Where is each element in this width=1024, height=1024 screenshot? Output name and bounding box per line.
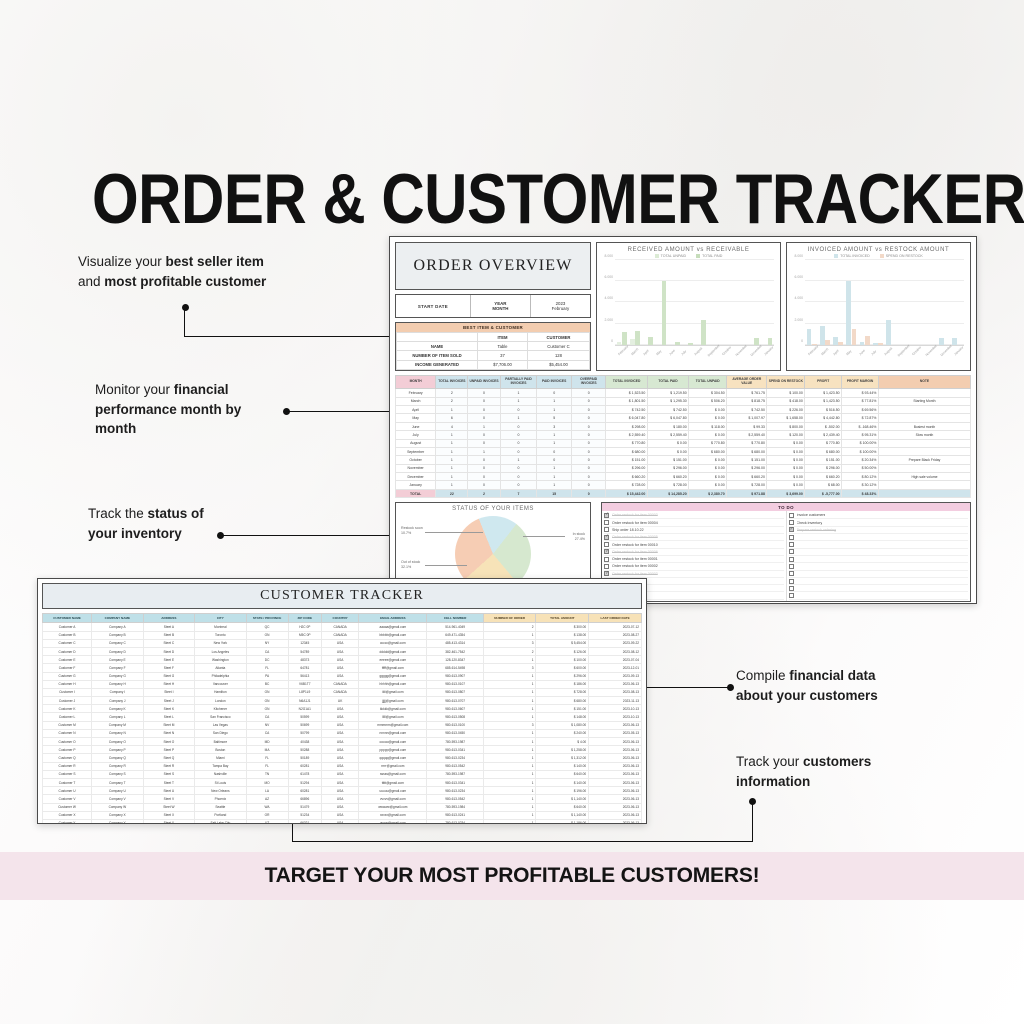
cell-margin: $ 93.44% (842, 389, 879, 397)
column-header: PAID INVOICES (537, 375, 572, 389)
cell-address: Steet H (143, 680, 195, 688)
table-row[interactable]: Customer NCompany NSteet NSan DiegoCA507… (43, 729, 642, 737)
cell-email-address: mmmmm@gmail.com (359, 721, 427, 729)
cell-paid_amt: $ 1,295.30 (647, 397, 688, 405)
column-header: PROFIT MARGIN (842, 375, 879, 389)
table-row[interactable]: Customer XCompany XSteet XPortlandOR5123… (43, 811, 642, 819)
cell-note: Slow month (878, 431, 970, 439)
todo-item[interactable] (789, 556, 969, 563)
cell-city: Miami (195, 754, 247, 762)
best-row-item: $7,706.00 (478, 360, 528, 369)
cell-unpaid_amt: $ 0.00 (689, 414, 727, 422)
best-row-label: INCOME GENERATED (397, 360, 478, 369)
cell-margin: $ 72.87% (842, 414, 879, 422)
table-row[interactable]: Customer QCompany QSteet QMiamiFL50189US… (43, 754, 642, 762)
cell-customer-name: Customer X (43, 811, 92, 819)
callout-anchor-dot (217, 532, 224, 539)
table-row[interactable]: January10010$ 728.00$ 728.00$ 0.00$ 728.… (396, 481, 971, 489)
checkbox-icon[interactable] (789, 586, 794, 591)
table-row[interactable]: February20100$ 1,523.50$ 1,219.50$ 304.5… (396, 389, 971, 397)
column-header: UNPAID INVOICES (468, 375, 500, 389)
table-row[interactable]: March20110$ 1,801.50$ 1,295.30$ 506.20$ … (396, 397, 971, 405)
cell-total-amount: $ 1,258.00 (536, 746, 589, 754)
cell-email-address: xxxxx@gmail.com (359, 811, 427, 819)
checkbox-icon[interactable] (604, 513, 609, 518)
checkbox-icon[interactable] (789, 593, 794, 598)
best-blank-corner (397, 333, 478, 342)
todo-label: Order restock for item 00003 (612, 572, 658, 576)
cell-city: San Francisco (195, 713, 247, 721)
cell-cell-number: 780-593-1987 (427, 738, 483, 746)
table-row[interactable]: August10010$ 770.80$ 0.00$ 770.80$ 770.8… (396, 439, 971, 447)
cell-aov: $ 660.20 (727, 473, 767, 481)
cell-paid: 0 (537, 456, 572, 464)
cell-partially: 0 (500, 464, 537, 472)
bar-group (695, 260, 708, 345)
table-row[interactable]: Customer VCompany VSteet VPhoenixAZ66896… (43, 795, 642, 803)
cell-margin: $ 80.12% (842, 473, 879, 481)
cell-number-of-order: 1 (483, 631, 536, 639)
cell-zip-code: N6A1J1 (288, 697, 322, 705)
cell-customer-name: Customer L (43, 713, 92, 721)
column-header: COMPANY NAME (92, 614, 144, 623)
cell-state-province: TN (246, 770, 288, 778)
todo-item[interactable]: Order restock for item 00001 (604, 556, 784, 563)
cell-number-of-order: 3 (483, 664, 536, 672)
order-overview-sheet[interactable]: ORDER OVERVIEW START DATE YEAR MONTH 202… (389, 236, 977, 604)
cell-last-order-date: 2023-06-13 (589, 680, 642, 688)
todo-item[interactable]: Invoice customers (789, 512, 969, 519)
todo-item[interactable]: Order restock for item 00010 (604, 541, 784, 548)
table-row[interactable]: April10010$ 742.50$ 742.50$ 0.00$ 742.50… (396, 406, 971, 414)
todo-item[interactable]: Order restock for item 00003 (604, 571, 784, 578)
todo-item[interactable]: Order restock for item 00003 (604, 512, 784, 519)
table-row[interactable]: Customer ACompany ASteet AMontrealQCH2C … (43, 623, 642, 631)
cell-aov: $ 971.88 (727, 489, 767, 497)
cell-number-of-order: 1 (483, 770, 536, 778)
chart-plot-area: 02.0004.0006.0008.000 (615, 260, 774, 346)
pie-label-out-of-stock: Out of stock 32.1% (401, 560, 420, 569)
todo-item[interactable] (789, 534, 969, 541)
column-header: TOTAL INVOICES (436, 375, 468, 389)
cell-unpaid: 0 (468, 439, 500, 447)
cell-address: Steet M (143, 721, 195, 729)
table-row[interactable]: Customer LCompany LSteet LSan FranciscoC… (43, 713, 642, 721)
column-header: CUSTOMER NAME (43, 614, 92, 623)
cell-aov: $ 1,007.97 (727, 414, 767, 422)
cell-city: Los Angeles (195, 647, 247, 655)
todo-item[interactable] (789, 549, 969, 556)
table-row[interactable]: July10010$ 2,559.40$ 2,559.40$ 0.00$ 2,5… (396, 431, 971, 439)
monthly-financial-table[interactable]: MONTHTOTAL INVOICESUNPAID INVOICESPARTIA… (395, 375, 971, 498)
cell-country: USA (322, 778, 359, 786)
cell-address: Steet I (143, 688, 195, 696)
table-row[interactable]: Customer JCompany JSteet JLondonONN6A1J1… (43, 697, 642, 705)
bar-group (628, 260, 641, 345)
cell-number-of-order: 1 (483, 656, 536, 664)
cell-unpaid: 0 (468, 389, 500, 397)
best-item-customer-table: ITEM CUSTOMER NAME Table Customer C NUMB… (396, 332, 590, 370)
cell-invoiced: $ 298.00 (606, 422, 647, 430)
cell-email-address: ooooo@gmail.com (359, 738, 427, 746)
callout-financial-performance: Monitor your financial performance month… (95, 380, 315, 439)
cell-state-province: MA (246, 746, 288, 754)
column-header: PARTIALLY PAID INVOICES (500, 375, 537, 389)
checkbox-icon[interactable] (789, 535, 794, 540)
table-row[interactable]: September11000$ 680.00$ 0.00$ 680.00$ 68… (396, 447, 971, 455)
todo-label: Ship order 18.10.22 (612, 528, 644, 532)
cell-number-of-order: 1 (483, 680, 536, 688)
callout-text: Monitor your (95, 382, 174, 397)
table-row[interactable]: November10010$ 296.00$ 296.00$ 0.00$ 296… (396, 464, 971, 472)
cell-paid_amt: $ 742.50 (647, 406, 688, 414)
checkbox-icon[interactable] (789, 527, 794, 532)
cell-aov: $ 680.00 (727, 447, 767, 455)
cell-country: UK (322, 697, 359, 705)
table-row[interactable]: May60150$ 6,047.80$ 6,047.80$ 0.00$ 1,00… (396, 414, 971, 422)
todo-item[interactable]: Prepare restock ordering (789, 527, 969, 534)
table-row[interactable]: Customer GCompany GSteet GPhiladelphiaPA… (43, 672, 642, 680)
cell-margin: $ 48.33% (842, 489, 879, 497)
todo-item[interactable]: Ship order 18.10.22 (604, 527, 784, 534)
cell-company-name: Company K (92, 705, 144, 713)
cell-email-address: nnnnn@gmail.com (359, 729, 427, 737)
cell-city: New Orleans (195, 787, 247, 795)
checkbox-icon[interactable] (604, 520, 609, 525)
cell-profit: $ 68.00 (805, 481, 842, 489)
cell-aov: $ 99.33 (727, 422, 767, 430)
cell-margin: $ 100.00% (842, 447, 879, 455)
cell-company-name: Company D (92, 647, 144, 655)
checkbox-icon[interactable] (789, 513, 794, 518)
chart-title: INVOICED AMOUNT vs RESTOCK AMOUNT (791, 247, 966, 253)
table-row[interactable]: Customer PCompany PSteet PBostonMA50288U… (43, 746, 642, 754)
cell-zip-code: 51234 (288, 811, 322, 819)
callout-emphasis: performance month by (95, 402, 241, 417)
cell-total-amount: $ 728.00 (536, 688, 589, 696)
cell-state-province: BC (246, 680, 288, 688)
table-row[interactable]: December10010$ 660.20$ 660.20$ 0.00$ 660… (396, 473, 971, 481)
bar (939, 338, 944, 344)
pie-label-in-stock: In stock 27.4% (573, 532, 585, 541)
cell-month: April (396, 406, 436, 414)
bar (852, 329, 857, 344)
table-row[interactable]: June41030$ 298.00$ 180.00$ 118.00$ 99.33… (396, 422, 971, 430)
callout-anchor-dot (283, 408, 290, 415)
column-header: ADDRESS (143, 614, 195, 623)
table-row[interactable]: Customer CCompany CSteet CNew YorkNY1234… (43, 639, 642, 647)
order-overview-left-column: ORDER OVERVIEW START DATE YEAR MONTH 202… (395, 242, 591, 371)
start-date-label: START DATE (396, 295, 470, 317)
cell-state-province: PA (246, 672, 288, 680)
cell-number-of-order: 1 (483, 697, 536, 705)
table-row[interactable]: Customer ICompany ISteet IHamiltonONL8P1… (43, 688, 642, 696)
todo-item[interactable] (789, 563, 969, 570)
todo-item[interactable]: Order restock for item 00002 (604, 563, 784, 570)
chart-received-vs-receivable[interactable]: RECEIVED AMOUNT vs RECEIVABLE TOTAL UNPA… (596, 242, 781, 371)
table-row: NUMBER OF ITEM SOLD 37 128 (397, 351, 590, 360)
table-row[interactable]: Customer WCompany WSteet WSeattleWA51479… (43, 803, 642, 811)
cell-note: Prepare Black Friday (878, 456, 970, 464)
cell-cell-number: 780-613-0234 (427, 819, 483, 824)
cell-total-amount: $ 148.00 (536, 713, 589, 721)
cell-country: USA (322, 738, 359, 746)
cell-last-order-date: 2023-06-13 (589, 811, 642, 819)
cell-invoiced: $ 728.00 (606, 481, 647, 489)
table-row[interactable]: Customer TCompany TSteet TSt LouisMO5129… (43, 778, 642, 786)
table-row[interactable]: Customer YCompany YSteet YSalt Lake City… (43, 819, 642, 824)
checkbox-icon[interactable] (604, 571, 609, 576)
table-row[interactable]: Customer ECompany ESteet EWashingtonDC48… (43, 656, 642, 664)
cell-invoiced: $ 1,523.50 (606, 389, 647, 397)
cell-customer-name: Customer A (43, 623, 92, 631)
checkbox-icon[interactable] (789, 564, 794, 569)
cell-invoiced: $ 742.50 (606, 406, 647, 414)
cell-email-address: rrrrr@gmail.com (359, 762, 427, 770)
checkbox-icon[interactable] (604, 527, 609, 532)
cell-partially: 0 (500, 431, 537, 439)
cell-total_invoices: 6 (436, 414, 468, 422)
callout-leader-line (292, 824, 293, 842)
cell-country: USA (322, 729, 359, 737)
todo-panel[interactable]: TO DO Order restock for item 00003Order … (601, 502, 971, 602)
cell-profit: $ 660.20 (805, 473, 842, 481)
start-date-row[interactable]: START DATE YEAR MONTH 2023 February (395, 294, 591, 318)
checkbox-icon[interactable] (604, 557, 609, 562)
cell-customer-name: Customer Q (43, 754, 92, 762)
chart-invoiced-vs-restock[interactable]: INVOICED AMOUNT vs RESTOCK AMOUNT TOTAL … (786, 242, 971, 371)
cell-unpaid: 0 (468, 406, 500, 414)
cell-total-amount: $ 151.00 (536, 705, 589, 713)
cell-last-order-date: 2023-06-13 (589, 754, 642, 762)
customer-tracker-title: CUSTOMER TRACKER (42, 583, 642, 609)
cell-total-amount: $ 1,080.00 (536, 721, 589, 729)
cell-restock: $ 1,658.00 (767, 414, 805, 422)
cell-paid: 1 (537, 464, 572, 472)
todo-item[interactable] (789, 541, 969, 548)
cell-total-amount: $ 296.00 (536, 672, 589, 680)
cell-paid_amt: $ 728.00 (647, 481, 688, 489)
cell-customer-name: Customer W (43, 803, 92, 811)
cell-unpaid_amt: $ 0.00 (689, 481, 727, 489)
cell-last-order-date: 2023-08-12 (589, 647, 642, 655)
cell-country: USA (322, 754, 359, 762)
cell-overpaid: 0 (571, 473, 606, 481)
todo-label: Invoice customers (797, 513, 826, 517)
todo-header: TO DO (602, 503, 970, 511)
bar (807, 329, 812, 345)
cell-total_invoices: 1 (436, 431, 468, 439)
bar (635, 331, 640, 345)
cell-unpaid_amt: $ 770.80 (689, 439, 727, 447)
todo-item[interactable]: Check inventory (789, 519, 969, 526)
cell-paid: 1 (537, 431, 572, 439)
cell-month: October (396, 456, 436, 464)
bar-group (858, 260, 871, 345)
cell-state-province: DC (246, 656, 288, 664)
column-header: CELL NUMBER (427, 614, 483, 623)
checkbox-icon[interactable] (789, 542, 794, 547)
cell-city: Montreal (195, 623, 247, 631)
pie-leader-line (425, 532, 483, 533)
bar-group (845, 260, 858, 345)
bar-group (911, 260, 924, 345)
period-values[interactable]: 2023 February (530, 295, 590, 317)
table-row[interactable]: Customer KCompany KSteet KKitchenerONN2G… (43, 705, 642, 713)
cell-paid_amt: $ 6,047.80 (647, 414, 688, 422)
cell-total-amount: $ 1,140.00 (536, 811, 589, 819)
checkbox-icon[interactable] (789, 571, 794, 576)
cell-state-province: FL (246, 762, 288, 770)
cell-last-order-date: 2023-06-13 (589, 795, 642, 803)
cell-total-amount: $ 640.00 (536, 803, 589, 811)
cell-country: CANADA (322, 623, 359, 631)
checkbox-icon[interactable] (604, 542, 609, 547)
table-row[interactable]: Customer UCompany USteet UNew OrleansLA6… (43, 787, 642, 795)
cell-zip-code: V6B1T7 (288, 680, 322, 688)
cell-total_invoices: 1 (436, 456, 468, 464)
table-row[interactable]: Customer HCompany HSteet HVancouverBCV6B… (43, 680, 642, 688)
cell-email-address: hhhhh@gmail.com (359, 680, 427, 688)
y-axis-tick-label: 8.000 (795, 254, 804, 258)
bar (820, 326, 825, 345)
cell-email-address: jjjjj@gmail.com (359, 697, 427, 705)
todo-item[interactable] (789, 578, 969, 585)
cell-city: New York (195, 639, 247, 647)
cell-number-of-order: 1 (483, 819, 536, 824)
table-header-row: MONTHTOTAL INVOICESUNPAID INVOICESPARTIA… (396, 375, 971, 389)
footer-banner: TARGET YOUR MOST PROFITABLE CUSTOMERS! (0, 852, 1024, 900)
todo-item[interactable]: Order restock for item 00004 (604, 519, 784, 526)
cell-city: Kitchener (195, 705, 247, 713)
customer-tracker-table[interactable]: CUSTOMER NAMECOMPANY NAMEADDRESSCITYSTAT… (42, 613, 642, 824)
table-row[interactable]: Customer RCompany RSteet RTampa BayFL602… (43, 762, 642, 770)
cell-unpaid: 1 (468, 422, 500, 430)
cell-last-order-date: 2023-06-13 (589, 721, 642, 729)
cell-address: Steet A (143, 623, 195, 631)
cell-number-of-order: 1 (483, 754, 536, 762)
cell-email-address: sssss@gmail.com (359, 770, 427, 778)
month-value-dropdown[interactable]: February (552, 306, 570, 311)
cell-cell-number: 780-593-1984 (427, 803, 483, 811)
cell-profit: $ 1,423.50 (805, 389, 842, 397)
todo-item[interactable] (789, 585, 969, 592)
table-row[interactable]: Customer DCompany DSteet DLos AngelesCA5… (43, 647, 642, 655)
cell-company-name: Company C (92, 639, 144, 647)
cell-country: USA (322, 639, 359, 647)
cell-restock: $ 0.00 (767, 439, 805, 447)
checkbox-icon[interactable] (604, 535, 609, 540)
cell-country: CANADA (322, 688, 359, 696)
todo-item[interactable] (789, 571, 969, 578)
cell-customer-name: Customer P (43, 746, 92, 754)
cell-unpaid_amt: $ 680.00 (689, 447, 727, 455)
cell-partially: 1 (500, 456, 537, 464)
callout-emphasis: most profitable customer (104, 274, 266, 289)
table-row[interactable]: Customer SCompany SSteet SNashvilleTN614… (43, 770, 642, 778)
checkbox-icon[interactable] (789, 557, 794, 562)
cell-address: Steet R (143, 762, 195, 770)
cell-zip-code: N2G1A1 (288, 705, 322, 713)
customer-tracker-sheet[interactable]: CUSTOMER TRACKER CUSTOMER NAMECOMPANY NA… (37, 578, 647, 824)
todo-label: Order restock for item 00005 (612, 535, 658, 539)
cell-overpaid: 0 (571, 422, 606, 430)
todo-item[interactable] (789, 592, 969, 599)
bar (860, 342, 865, 345)
cell-number-of-order: 1 (483, 795, 536, 803)
cell-number-of-order: 3 (483, 721, 536, 729)
chart-legend: TOTAL UNPAID TOTAL PAID (601, 254, 776, 258)
cell-state-province: AZ (246, 795, 288, 803)
cell-total-amount: $ 138.00 (536, 631, 589, 639)
checkbox-icon[interactable] (789, 520, 794, 525)
checkbox-icon[interactable] (604, 549, 609, 554)
table-row: NAME Table Customer C (397, 342, 590, 351)
callout-best-seller: Visualize your best seller item and most… (78, 252, 378, 291)
table-body: Customer ACompany ASteet AMontrealQCH2C … (43, 623, 642, 824)
cell-company-name: Company W (92, 803, 144, 811)
table-row[interactable]: TOTAL2227150$ 15,442.00$ 14,285.20$ 2,38… (396, 489, 971, 497)
table-row[interactable]: Customer OCompany OSteet OBaltimoreMD404… (43, 738, 642, 746)
cell-partially: 0 (500, 439, 537, 447)
cell-margin: $ 30.12% (842, 481, 879, 489)
checkbox-icon[interactable] (789, 549, 794, 554)
cell-number-of-order: 2 (483, 647, 536, 655)
callout-text: Compile (736, 668, 789, 683)
cell-cell-number: 382-461-7542 (427, 647, 483, 655)
period-labels: YEAR MONTH (470, 295, 530, 317)
bar (873, 343, 878, 345)
cell-company-name: Company T (92, 778, 144, 786)
cell-month: February (396, 389, 436, 397)
cell-cell-number: 980-613-0234 (427, 787, 483, 795)
cell-address: Steet E (143, 656, 195, 664)
cell-address: Steet O (143, 738, 195, 746)
checkbox-icon[interactable] (604, 564, 609, 569)
cell-country: USA (322, 672, 359, 680)
cell-customer-name: Customer C (43, 639, 92, 647)
cell-aov: $ 761.75 (727, 389, 767, 397)
cell-unpaid_amt: $ 2,380.70 (689, 489, 727, 497)
cell-company-name: Company S (92, 770, 144, 778)
cell-country: USA (322, 656, 359, 664)
todo-item[interactable]: Order restock for item 00005 (604, 534, 784, 541)
checkbox-icon[interactable] (789, 579, 794, 584)
cell-number-of-order: 1 (483, 672, 536, 680)
todo-item[interactable]: Order restock for item 00006 (604, 549, 784, 556)
cell-company-name: Company Y (92, 819, 144, 824)
pie-label-restock-soon: Restock soon 10.7% (401, 526, 423, 535)
cell-cell-number: 980-613-0107 (427, 680, 483, 688)
cell-month: January (396, 481, 436, 489)
cell-unpaid: 0 (468, 473, 500, 481)
cell-last-order-date: 2023-06-13 (589, 778, 642, 786)
bar-group (832, 260, 845, 345)
callout-customer-information: Track your customers information (736, 752, 956, 791)
cell-profit: $ 2,439.40 (805, 431, 842, 439)
cell-number-of-order: 1 (483, 729, 536, 737)
bar-group (805, 260, 818, 345)
cell-total-amount: $ 1,312.00 (536, 754, 589, 762)
cell-address: Steet D (143, 647, 195, 655)
cell-aov: $ 151.00 (727, 456, 767, 464)
table-row[interactable]: Customer BCompany BSteet BTorontoONM5C 0… (43, 631, 642, 639)
table-row[interactable]: Customer MCompany MSteet MLas VegasNV506… (43, 721, 642, 729)
cell-state-province: OR (246, 811, 288, 819)
table-row[interactable]: Customer FCompany FSteet FAtlantaFL64781… (43, 664, 642, 672)
table-row[interactable]: October10100$ 151.00$ 151.00$ 0.00$ 151.… (396, 456, 971, 464)
cell-cell-number: 128-120-8347 (427, 656, 483, 664)
